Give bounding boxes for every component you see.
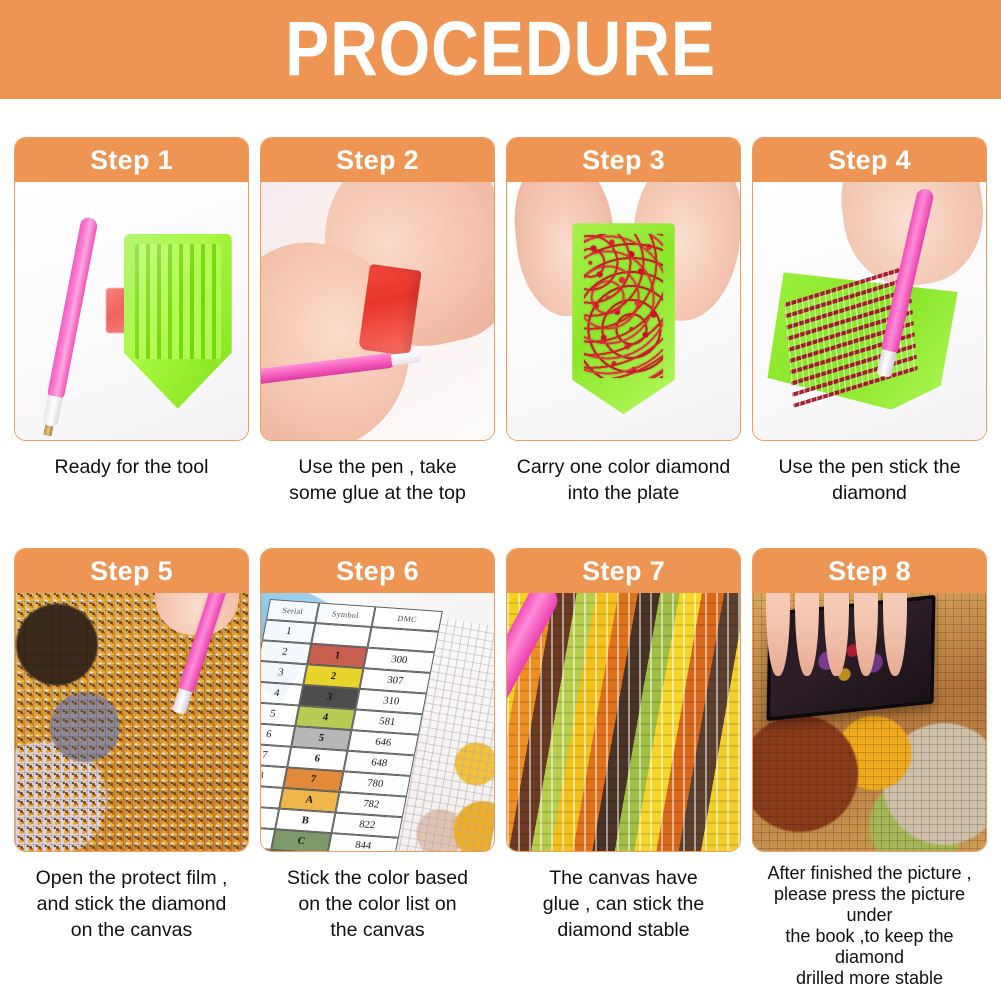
step-caption-5: Open the protect film , and stick the di…	[14, 866, 249, 943]
step-card-3[interactable]: Step 3	[506, 137, 741, 441]
step-card-1[interactable]: Step 1	[14, 137, 249, 441]
photo-background: SerialSymbolDMC1213003230743310545816564…	[261, 593, 494, 851]
page-title: PROCEDURE	[285, 11, 716, 88]
step-photo-1	[15, 182, 248, 440]
step-photo-2	[261, 182, 494, 440]
color-chart-serial: 2	[261, 640, 312, 664]
step-photo-3	[507, 182, 740, 440]
color-chart-serial: 5	[261, 702, 300, 726]
step-photo-4	[753, 182, 986, 440]
step-card-2[interactable]: Step 2	[260, 137, 495, 441]
color-chart-header: Serial	[266, 599, 320, 623]
color-chart-symbol: C	[272, 829, 332, 852]
step-card-5[interactable]: Step 5	[14, 548, 249, 852]
hand-icon	[762, 593, 925, 676]
steps-row-2: Step 5 Open the protect film , and stick…	[0, 506, 1001, 988]
red-diamonds-icon	[584, 234, 663, 378]
step-cell-1: Step 1 Ready for the tool	[14, 137, 249, 506]
step-card-7[interactable]: Step 7	[506, 548, 741, 852]
step-cell-2: Step 2 Use the pen , take some glue at t…	[260, 137, 495, 506]
step-photo-7	[507, 593, 740, 851]
color-chart-serial: 6	[261, 722, 296, 746]
step-caption-4: Use the pen stick the diamond	[752, 455, 987, 506]
step-caption-3: Carry one color diamond into the plate	[506, 455, 741, 506]
step-badge-2: Step 2	[261, 138, 494, 182]
step-badge-3: Step 3	[507, 138, 740, 182]
step-caption-6: Stick the color based on the color list …	[260, 866, 495, 943]
step-badge-8: Step 8	[753, 549, 986, 593]
step-cell-7: Step 7 The canvas have glue , can stick …	[506, 548, 741, 988]
step-caption-1: Ready for the tool	[14, 455, 249, 481]
step-card-4[interactable]: Step 4	[752, 137, 987, 441]
page-header-band: PROCEDURE	[0, 0, 1001, 99]
step-badge-5: Step 5	[15, 549, 248, 593]
step-caption-8: After finished the picture , please pres…	[752, 863, 987, 988]
step-cell-5: Step 5 Open the protect film , and stick…	[14, 548, 249, 988]
step-cell-6: Step 6 SerialSymbolDMC121300323074331054…	[260, 548, 495, 988]
step-caption-7: The canvas have glue , can stick the dia…	[506, 866, 741, 943]
color-chart-serial: 1	[262, 619, 316, 643]
step-photo-6: SerialSymbolDMC1213003230743310545816564…	[261, 593, 494, 851]
step-card-6[interactable]: Step 6 SerialSymbolDMC121300323074331054…	[260, 548, 495, 852]
step-photo-5	[15, 593, 248, 851]
steps-row-1: Step 1 Ready for the tool Step 2 Use the…	[0, 99, 1001, 506]
step-card-8[interactable]: Step 8	[752, 548, 987, 852]
color-chart-serial: 4	[261, 681, 304, 705]
color-chart-serial: 3	[261, 660, 308, 684]
step-photo-8	[753, 593, 986, 851]
step-badge-7: Step 7	[507, 549, 740, 593]
step-cell-4: Step 4 Use the pen stick the diamond	[752, 137, 987, 506]
step-cell-3: Step 3 Carry one color diamond into the …	[506, 137, 741, 506]
step-badge-6: Step 6	[261, 549, 494, 593]
step-badge-1: Step 1	[15, 138, 248, 182]
step-badge-4: Step 4	[753, 138, 986, 182]
step-cell-8: Step 8 After finished the picture , plea…	[752, 548, 987, 988]
step-caption-2: Use the pen , take some glue at the top	[260, 455, 495, 506]
